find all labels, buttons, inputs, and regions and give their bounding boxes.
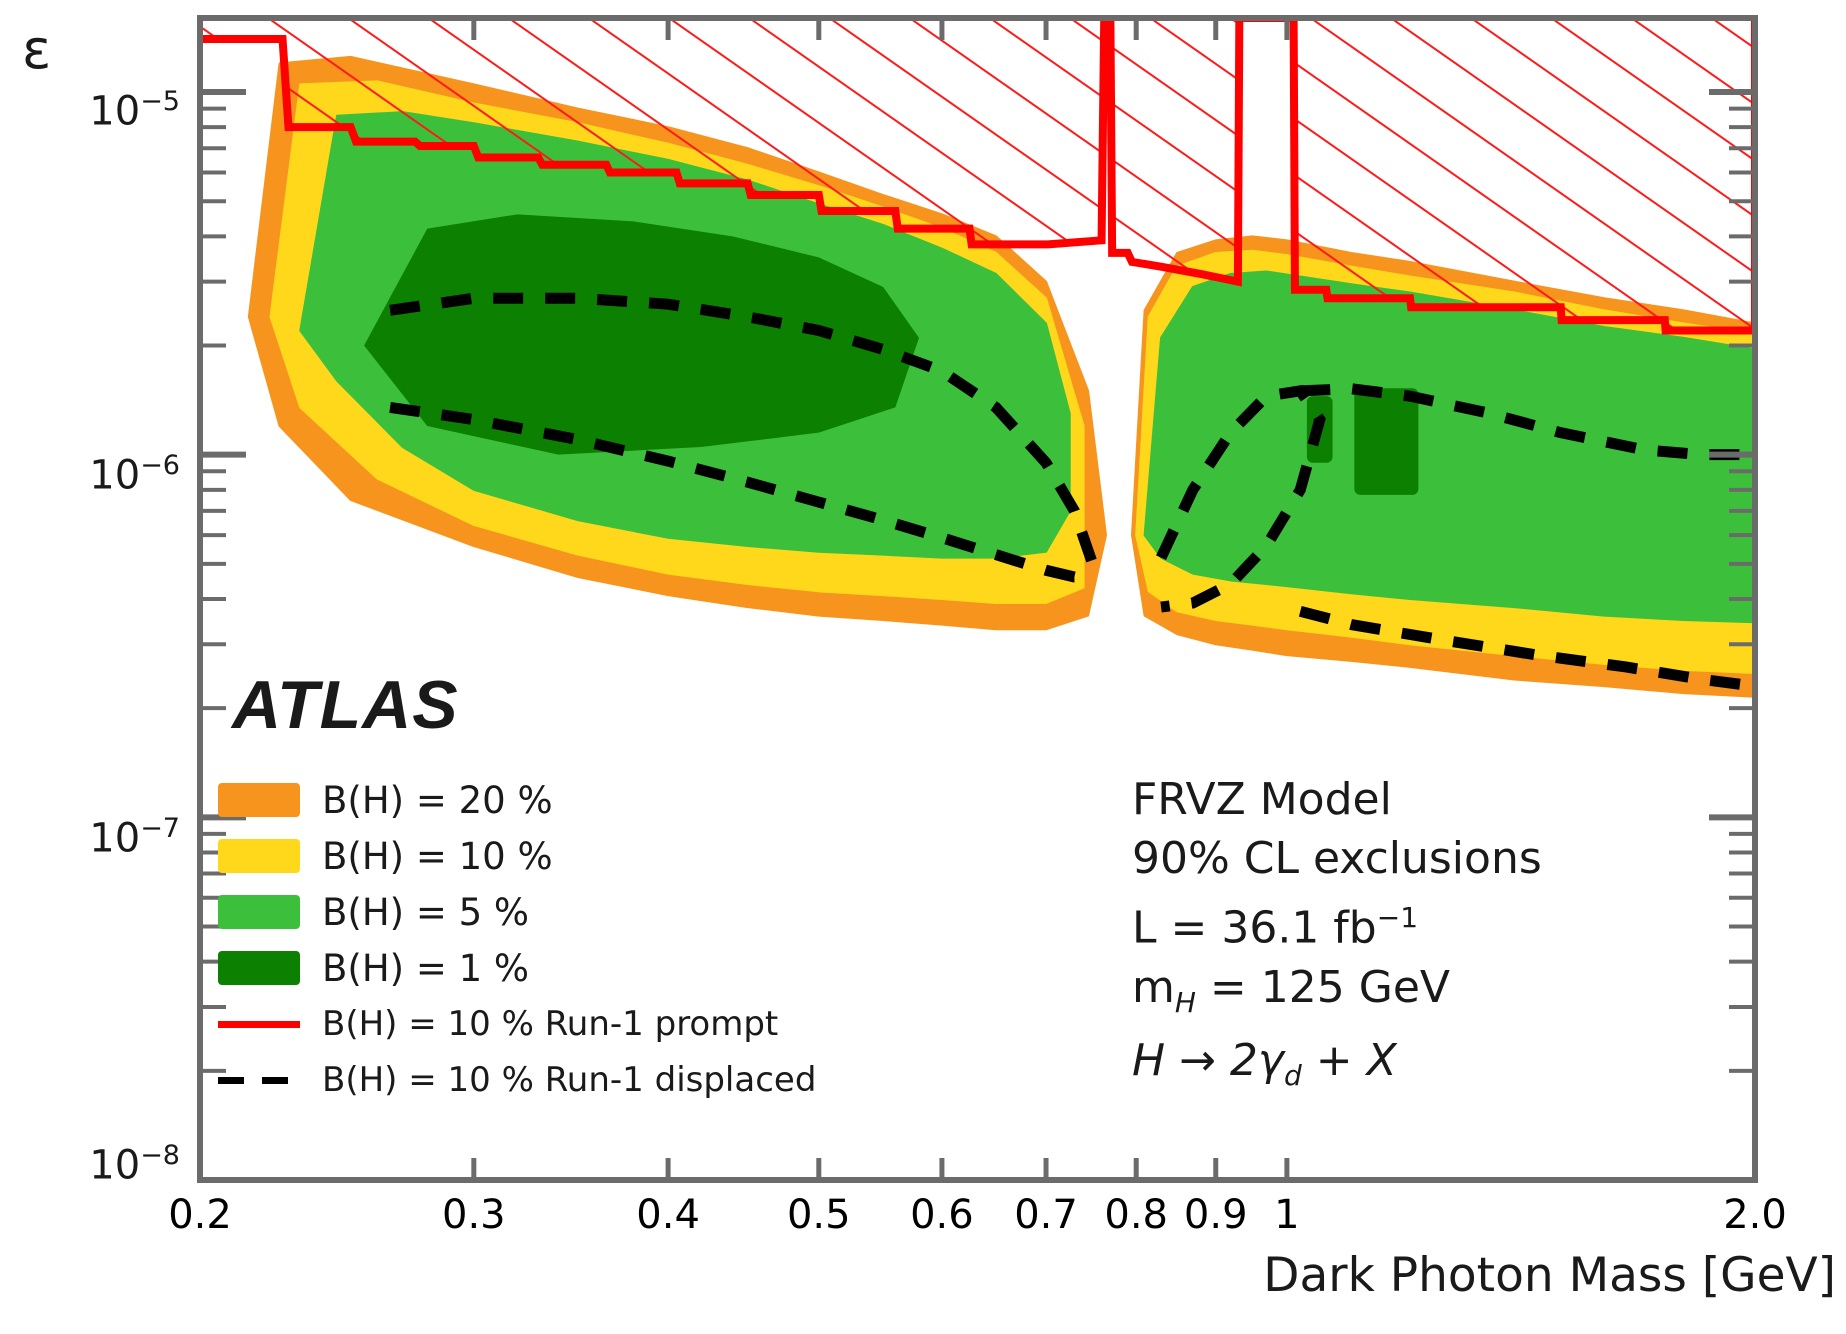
info-mass-symbol: m xyxy=(1132,962,1175,1013)
legend-bh-5: B(H) = 5 % xyxy=(218,884,816,940)
x-tick-0-6: 0.6 xyxy=(910,1192,974,1238)
y-tick-exp: −6 xyxy=(140,450,180,481)
y-tick-exp: −8 xyxy=(140,1140,180,1171)
legend-label: B(H) = 10 % Run-1 prompt xyxy=(322,1004,778,1044)
y-tick-1e-7: 10−7 xyxy=(30,813,180,861)
info-process-head: H → 2γ xyxy=(1132,1035,1284,1086)
band-blob_right_large xyxy=(1354,388,1418,495)
y-tick-1e-6: 10−6 xyxy=(30,450,180,498)
y-tick-exp: −7 xyxy=(140,813,180,844)
legend-run1-prompt: B(H) = 10 % Run-1 prompt xyxy=(218,996,816,1052)
legend-swatch xyxy=(218,895,300,929)
legend-bh-20: B(H) = 20 % xyxy=(218,772,816,828)
x-axis-label: Dark Photon Mass [GeV] xyxy=(1263,1248,1846,1303)
legend-label: B(H) = 10 % Run-1 displaced xyxy=(322,1060,816,1100)
x-tick-0-2: 0.2 xyxy=(168,1192,232,1238)
legend-swatch xyxy=(218,951,300,985)
legend-label: B(H) = 20 % xyxy=(322,779,553,822)
info-higgs-mass: mH = 125 GeV xyxy=(1132,958,1542,1032)
info-mass-value: = 125 GeV xyxy=(1196,962,1450,1013)
y-tick-1e-5: 10−5 xyxy=(30,86,180,134)
x-tick-0-7: 0.7 xyxy=(1014,1192,1078,1238)
info-lumi-exp: −1 xyxy=(1377,901,1418,934)
info-model: FRVZ Model xyxy=(1132,770,1542,829)
legend-run1-displaced: B(H) = 10 % Run-1 displaced xyxy=(218,1052,816,1108)
y-tick-exp: −5 xyxy=(140,86,180,117)
legend-bh-1: B(H) = 1 % xyxy=(218,940,816,996)
legend-label: B(H) = 5 % xyxy=(322,891,529,934)
x-tick-0-9: 0.9 xyxy=(1184,1192,1248,1238)
info-process-tail: + X xyxy=(1302,1035,1397,1086)
info-process-sub: d xyxy=(1284,1059,1302,1092)
legend-swatch xyxy=(218,839,300,873)
x-tick-2-0: 2.0 xyxy=(1723,1192,1787,1238)
legend-swatch xyxy=(218,783,300,817)
info-mass-sub: H xyxy=(1175,985,1196,1018)
info-lumi-text: L = 36.1 fb xyxy=(1132,903,1377,954)
x-tick-1: 1 xyxy=(1274,1192,1299,1238)
x-tick-0-4: 0.4 xyxy=(636,1192,700,1238)
y-tick-1e-8: 10−8 xyxy=(30,1140,180,1188)
y-axis-label: ε xyxy=(22,18,51,81)
atlas-label: ATLAS xyxy=(232,666,459,744)
legend: B(H) = 20 %B(H) = 10 %B(H) = 5 %B(H) = 1… xyxy=(218,772,816,1108)
info-block: FRVZ Model 90% CL exclusions L = 36.1 fb… xyxy=(1132,770,1542,1105)
info-luminosity: L = 36.1 fb−1 xyxy=(1132,888,1542,958)
legend-label: B(H) = 10 % xyxy=(322,835,553,878)
x-tick-0-8: 0.8 xyxy=(1104,1192,1168,1238)
x-tick-0-5: 0.5 xyxy=(787,1192,851,1238)
info-process: H → 2γd + X xyxy=(1132,1031,1542,1105)
dark-photon-exclusion-figure: ε 10−5 10−6 10−7 10−8 0.20.30.40.50.60.7… xyxy=(0,0,1846,1334)
info-cl: 90% CL exclusions xyxy=(1132,829,1542,888)
legend-label: B(H) = 1 % xyxy=(322,947,529,990)
x-tick-0-3: 0.3 xyxy=(442,1192,506,1238)
legend-bh-10: B(H) = 10 % xyxy=(218,828,816,884)
